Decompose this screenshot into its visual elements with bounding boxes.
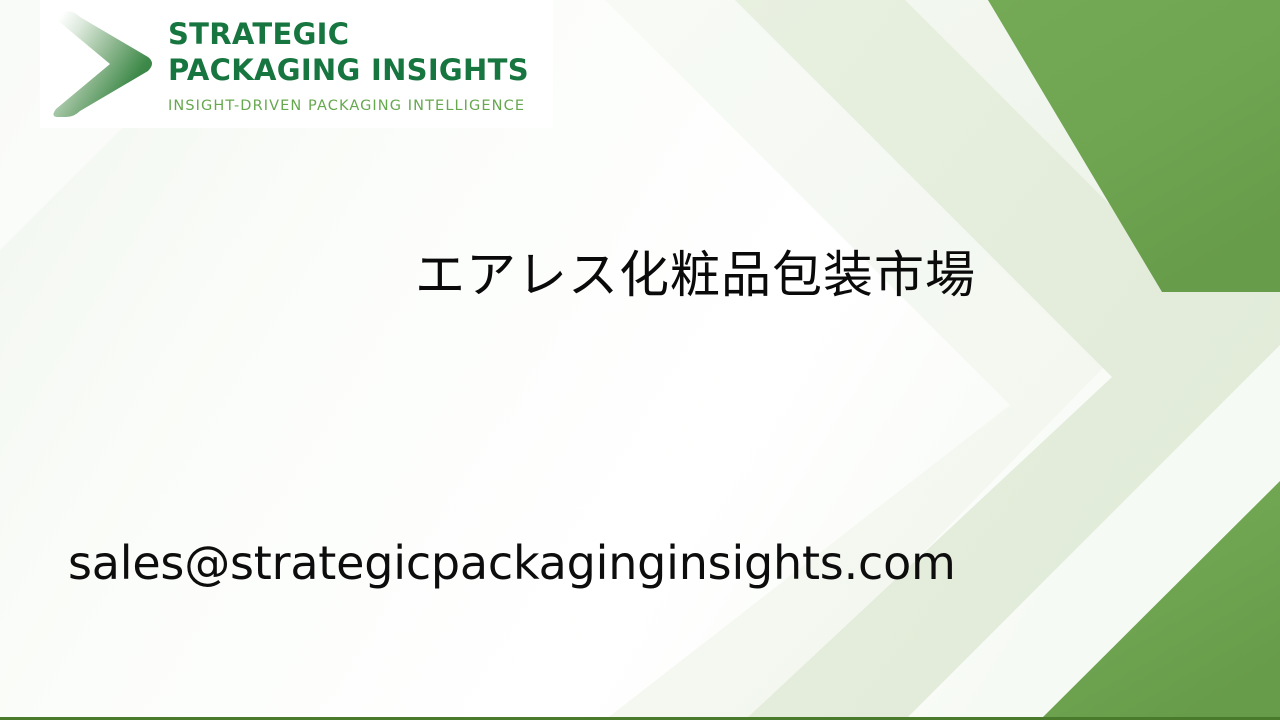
chevron-mark-icon (44, 5, 164, 123)
company-logo: STRATEGIC PACKAGING INSIGHTS INSIGHT-DRI… (40, 0, 553, 128)
logo-tagline: INSIGHT-DRIVEN PACKAGING INTELLIGENCE (168, 99, 550, 114)
title-slide: STRATEGIC PACKAGING INSIGHTS INSIGHT-DRI… (0, 0, 1280, 720)
slide-title: エアレス化粧品包装市場 (415, 247, 1175, 305)
logo-wordmark: STRATEGIC PACKAGING INSIGHTS INSIGHT-DRI… (168, 10, 550, 114)
contact-email[interactable]: sales@strategicpackaginginsights.com (68, 536, 956, 591)
logo-line-1: STRATEGIC (168, 20, 550, 49)
logo-line-2: PACKAGING INSIGHTS (168, 56, 550, 85)
